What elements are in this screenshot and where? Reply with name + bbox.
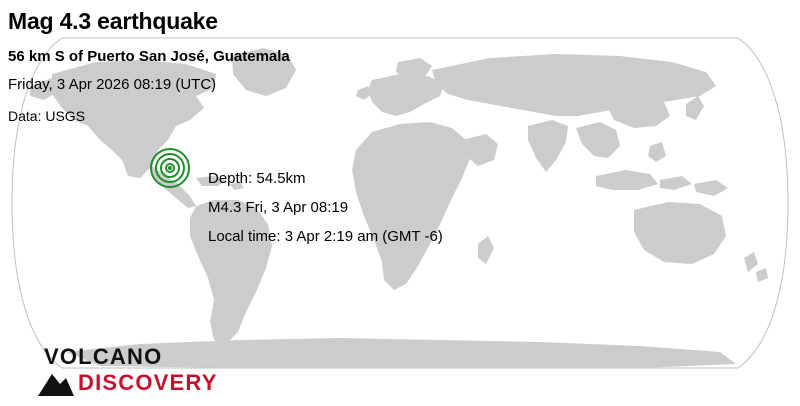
event-datetime: Friday, 3 Apr 2026 08:19 (UTC) xyxy=(8,76,216,93)
page-title: Mag 4.3 earthquake xyxy=(8,8,218,35)
epicenter-marker[interactable] xyxy=(150,148,190,188)
epicenter-center-dot xyxy=(168,166,172,170)
quake-magnitude-time: M4.3 Fri, 3 Apr 08:19 xyxy=(208,197,443,218)
quake-local-time: Local time: 3 Apr 2:19 am (GMT -6) xyxy=(208,226,443,247)
data-source-label: Data: USGS xyxy=(8,108,85,124)
logo-text-volcano: VOLCANO xyxy=(44,344,162,370)
earthquake-map-card: Mag 4.3 earthquake 56 km S of Puerto San… xyxy=(0,0,800,406)
logo-text-discovery: DISCOVERY xyxy=(78,370,218,396)
quake-depth: Depth: 54.5km xyxy=(208,168,443,189)
quake-info-block: Depth: 54.5km M4.3 Fri, 3 Apr 08:19 Loca… xyxy=(208,168,443,247)
volcanodiscovery-logo[interactable]: VOLCANO DISCOVERY xyxy=(36,344,216,400)
volcano-mountain-icon xyxy=(36,370,76,398)
location-subtitle: 56 km S of Puerto San José, Guatemala xyxy=(8,48,290,65)
